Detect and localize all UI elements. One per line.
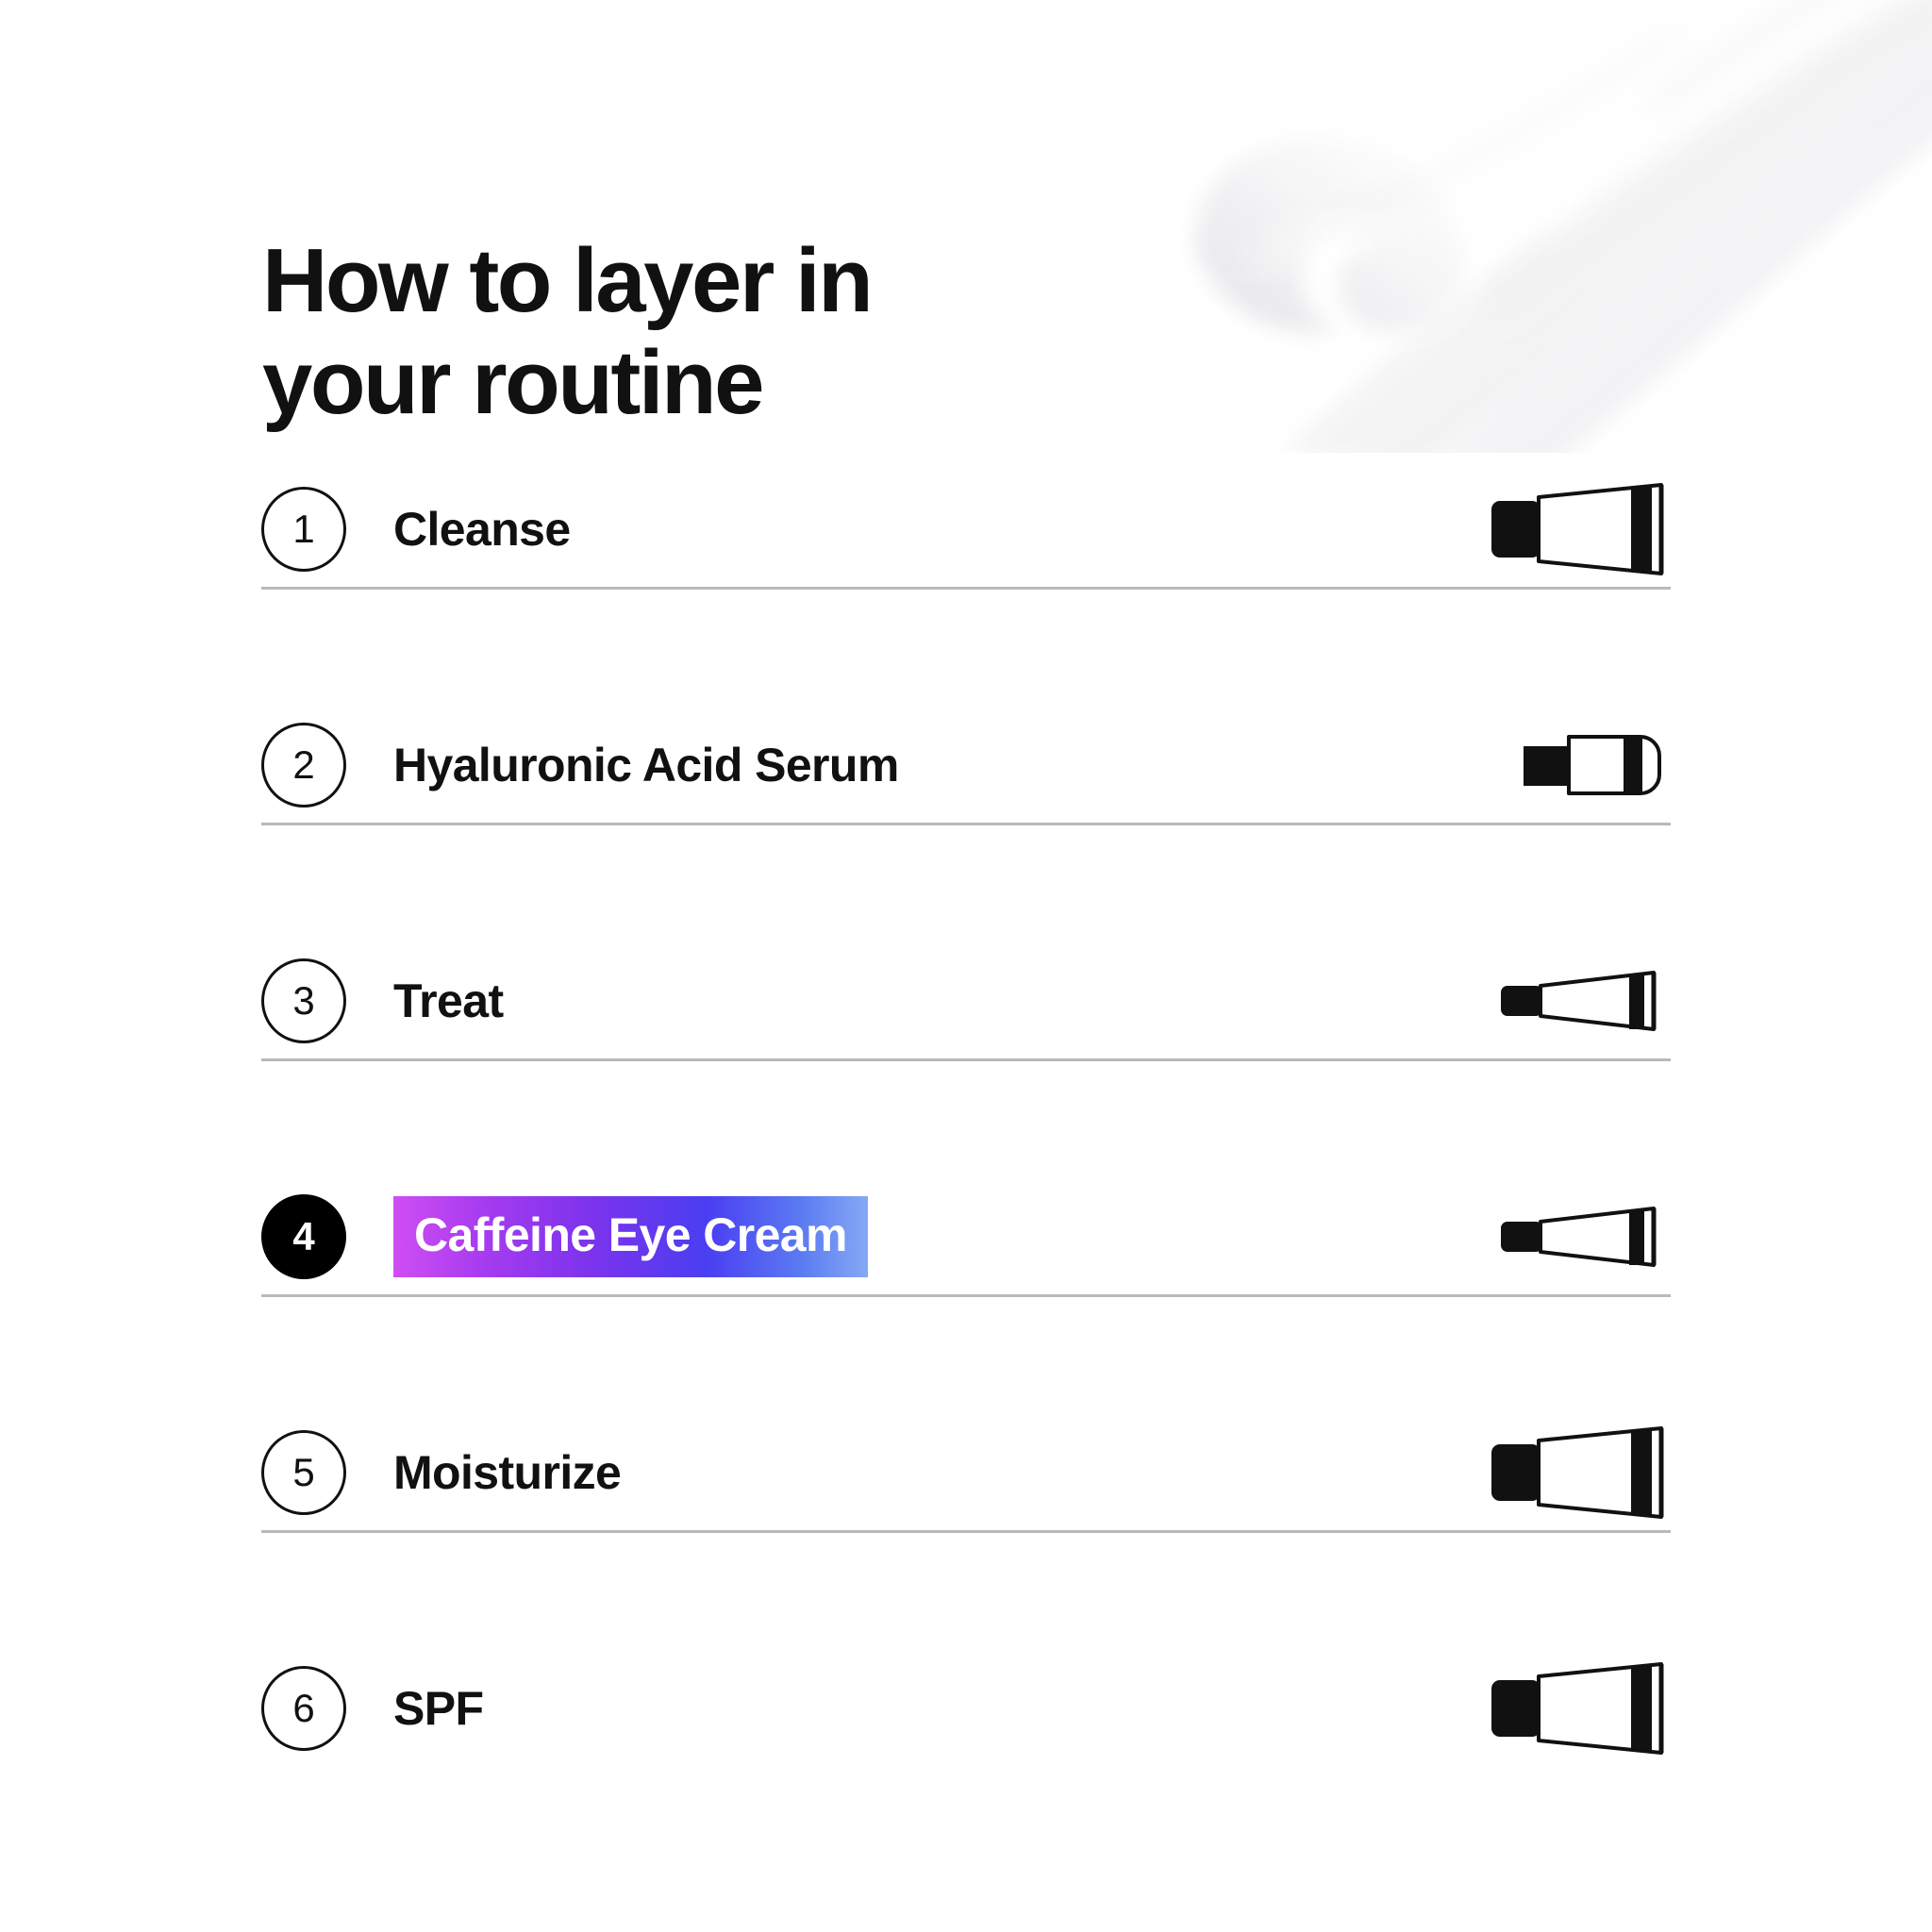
step-number-badge: 6 <box>261 1666 346 1751</box>
step-label-wrap: Cleanse <box>393 502 1444 557</box>
step-label-wrap: Treat <box>393 974 1444 1028</box>
step-number-badge: 5 <box>261 1430 346 1515</box>
step-label: SPF <box>393 1681 483 1736</box>
row-gap <box>261 825 1671 943</box>
step-number-badge: 2 <box>261 723 346 808</box>
tube-slim-icon <box>1444 1185 1671 1289</box>
page-title: How to layer in your routine <box>262 230 1300 433</box>
step-label: Treat <box>393 974 504 1028</box>
step-label-wrap: SPF <box>393 1681 1444 1736</box>
row-gap <box>261 1533 1671 1651</box>
row-gap <box>261 1297 1671 1415</box>
routine-step-row[interactable]: 3 Treat <box>261 943 1671 1058</box>
routine-steps-list: 1 Cleanse 2 Hyaluronic Acid Serum <box>261 472 1671 1766</box>
infographic-page: How to layer in your routine 1 Cleanse 2 <box>0 0 1932 1932</box>
serum-bottle-icon <box>1444 713 1671 817</box>
step-label-wrap: Moisturize <box>393 1445 1444 1500</box>
routine-step-row-active[interactable]: 4 Caffeine Eye Cream <box>261 1179 1671 1294</box>
step-label-highlighted: Caffeine Eye Cream <box>393 1196 868 1277</box>
routine-step-row[interactable]: 2 Hyaluronic Acid Serum <box>261 708 1671 823</box>
routine-step-row[interactable]: 1 Cleanse <box>261 472 1671 587</box>
tube-slim-icon <box>1444 949 1671 1053</box>
step-number-badge: 4 <box>261 1194 346 1279</box>
step-number-badge: 1 <box>261 487 346 572</box>
routine-step-row[interactable]: 6 SPF <box>261 1651 1671 1766</box>
step-label: Hyaluronic Acid Serum <box>393 738 899 792</box>
step-number-badge: 3 <box>261 958 346 1043</box>
row-gap <box>261 590 1671 708</box>
tube-wide-icon <box>1444 1657 1671 1760</box>
row-gap <box>261 1061 1671 1179</box>
step-label-wrap: Caffeine Eye Cream <box>393 1196 1444 1277</box>
step-label: Moisturize <box>393 1445 621 1500</box>
step-label: Cleanse <box>393 502 571 557</box>
routine-step-row[interactable]: 5 Moisturize <box>261 1415 1671 1530</box>
tube-wide-icon <box>1444 477 1671 581</box>
step-label-wrap: Hyaluronic Acid Serum <box>393 738 1444 792</box>
tube-wide-icon <box>1444 1421 1671 1524</box>
